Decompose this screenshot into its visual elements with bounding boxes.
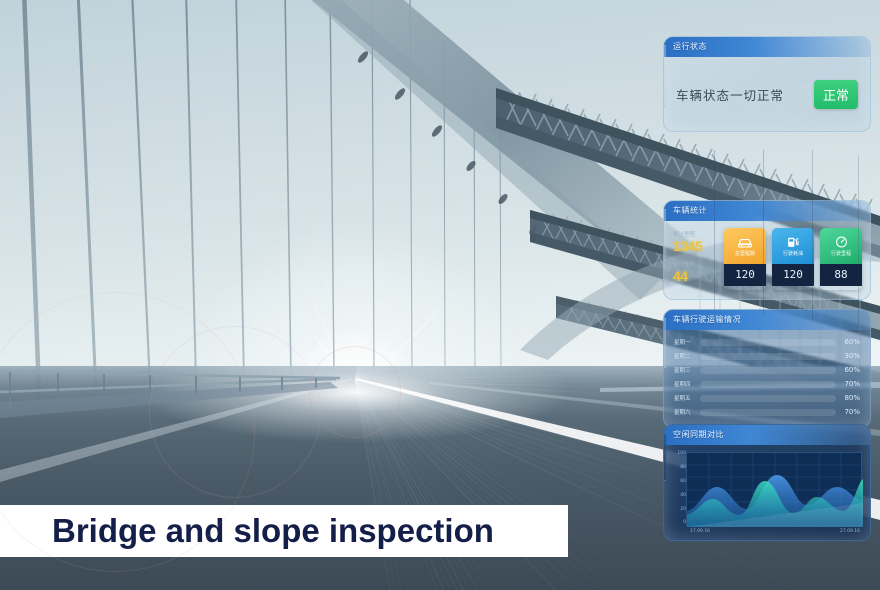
y-tick-label: 100 <box>672 452 686 457</box>
stat-card-value: 120 <box>724 264 766 286</box>
x-tick-label: 27.09.16 <box>840 529 860 534</box>
stat-card-value: 120 <box>772 264 814 286</box>
bar-row-label: 星期二 <box>674 352 700 360</box>
bar-chart: 星期一60%星期二30%星期三60%星期四70%星期五80%星期六70% <box>664 330 870 427</box>
kpi-label-1: 在线车辆 <box>673 260 717 268</box>
panel-bracket-decor <box>663 209 666 261</box>
hud-connector-wire <box>812 150 813 320</box>
stat-card-label: 行驶里程 <box>831 250 851 257</box>
y-tick-label: 0 <box>672 521 686 526</box>
kpi-label-0: 累计里程 <box>673 230 717 238</box>
bar-row: 星期五80% <box>674 392 860 404</box>
bar-row-value: 30% <box>836 352 860 360</box>
hud-panel-idle-comparison[interactable]: 空闲同期对比 100806040200 <box>663 424 871 541</box>
bar-track <box>700 353 836 360</box>
kpi-value-1: 44 <box>673 268 717 284</box>
bar-row-label: 星期三 <box>674 366 700 374</box>
bar-track <box>700 339 836 346</box>
bar-row-label: 星期六 <box>674 408 700 416</box>
gauge-icon <box>834 235 849 249</box>
kpi-group: 累计里程 1345 在线车辆 44 <box>673 228 717 290</box>
bar-row-value: 70% <box>836 408 860 416</box>
y-tick-label: 60 <box>672 480 686 485</box>
panel-bracket-decor <box>663 318 666 368</box>
fuel-icon <box>786 235 800 249</box>
x-tick-label: 17.09.16 <box>690 529 710 534</box>
stat-card-fuel[interactable]: 行驶耗油 120 <box>772 228 814 290</box>
hud-connector-wire <box>763 150 764 315</box>
stats-panel-title: 车辆统计 <box>664 201 870 221</box>
bar-row-label: 星期一 <box>674 338 700 346</box>
area-panel-title: 空闲同期对比 <box>664 425 870 445</box>
bar-row-value: 70% <box>836 380 860 388</box>
stat-card-mileage[interactable]: 总里程数 120 <box>724 228 766 290</box>
bar-row: 星期一60% <box>674 336 860 348</box>
hud-panel-vehicle-stats[interactable]: 车辆统计 累计里程 1345 在线车辆 44 <box>663 200 871 300</box>
bar-track <box>700 367 836 374</box>
bar-track <box>700 409 836 416</box>
status-badge: 正常 <box>814 80 858 109</box>
hud-connector-wire <box>858 155 859 325</box>
stat-card-label: 行驶耗油 <box>783 250 803 257</box>
lens-flare-ring <box>309 346 401 438</box>
bar-row: 星期二30% <box>674 350 860 362</box>
hud-panel-transport-bars[interactable]: 车辆行驶运输情况 星期一60%星期二30%星期三60%星期四70%星期五80%星… <box>663 309 871 428</box>
car-icon <box>737 236 753 249</box>
status-panel-title: 运行状态 <box>664 37 870 57</box>
hud-connector-wire <box>714 150 715 310</box>
panel-bracket-decor <box>663 45 666 107</box>
stat-card-value: 88 <box>820 264 862 286</box>
bar-row: 星期四70% <box>674 378 860 390</box>
panel-bracket-decor <box>663 433 666 481</box>
area-chart-y-axis: 100806040200 <box>672 452 686 526</box>
y-tick-label: 80 <box>672 466 686 471</box>
area-chart-plot <box>686 452 862 526</box>
bar-track <box>700 395 836 402</box>
hud-panel-status[interactable]: 运行状态 车辆状态一切正常 正常 <box>663 36 871 132</box>
y-tick-label: 40 <box>672 494 686 499</box>
bar-row-value: 60% <box>836 338 860 346</box>
bar-row: 星期三60% <box>674 364 860 376</box>
bar-track <box>700 381 836 388</box>
bars-panel-title: 车辆行驶运输情况 <box>664 310 870 330</box>
screenshot-root: 运行状态 车辆状态一切正常 正常 车辆统计 累计里程 1345 在线车辆 44 <box>0 0 880 590</box>
stat-card-label: 总里程数 <box>735 250 755 257</box>
y-tick-label: 20 <box>672 508 686 513</box>
bar-row-label: 星期四 <box>674 380 700 388</box>
area-chart-x-axis: 17.09.1627.09.16 <box>672 526 862 534</box>
status-message: 车辆状态一切正常 <box>676 85 814 104</box>
kpi-value-0: 1345 <box>673 238 717 254</box>
bar-row-value: 60% <box>836 366 860 374</box>
bar-row: 星期六70% <box>674 406 860 418</box>
bar-row-label: 星期五 <box>674 394 700 402</box>
stat-card-distance[interactable]: 行驶里程 88 <box>820 228 862 290</box>
bar-row-value: 80% <box>836 394 860 402</box>
